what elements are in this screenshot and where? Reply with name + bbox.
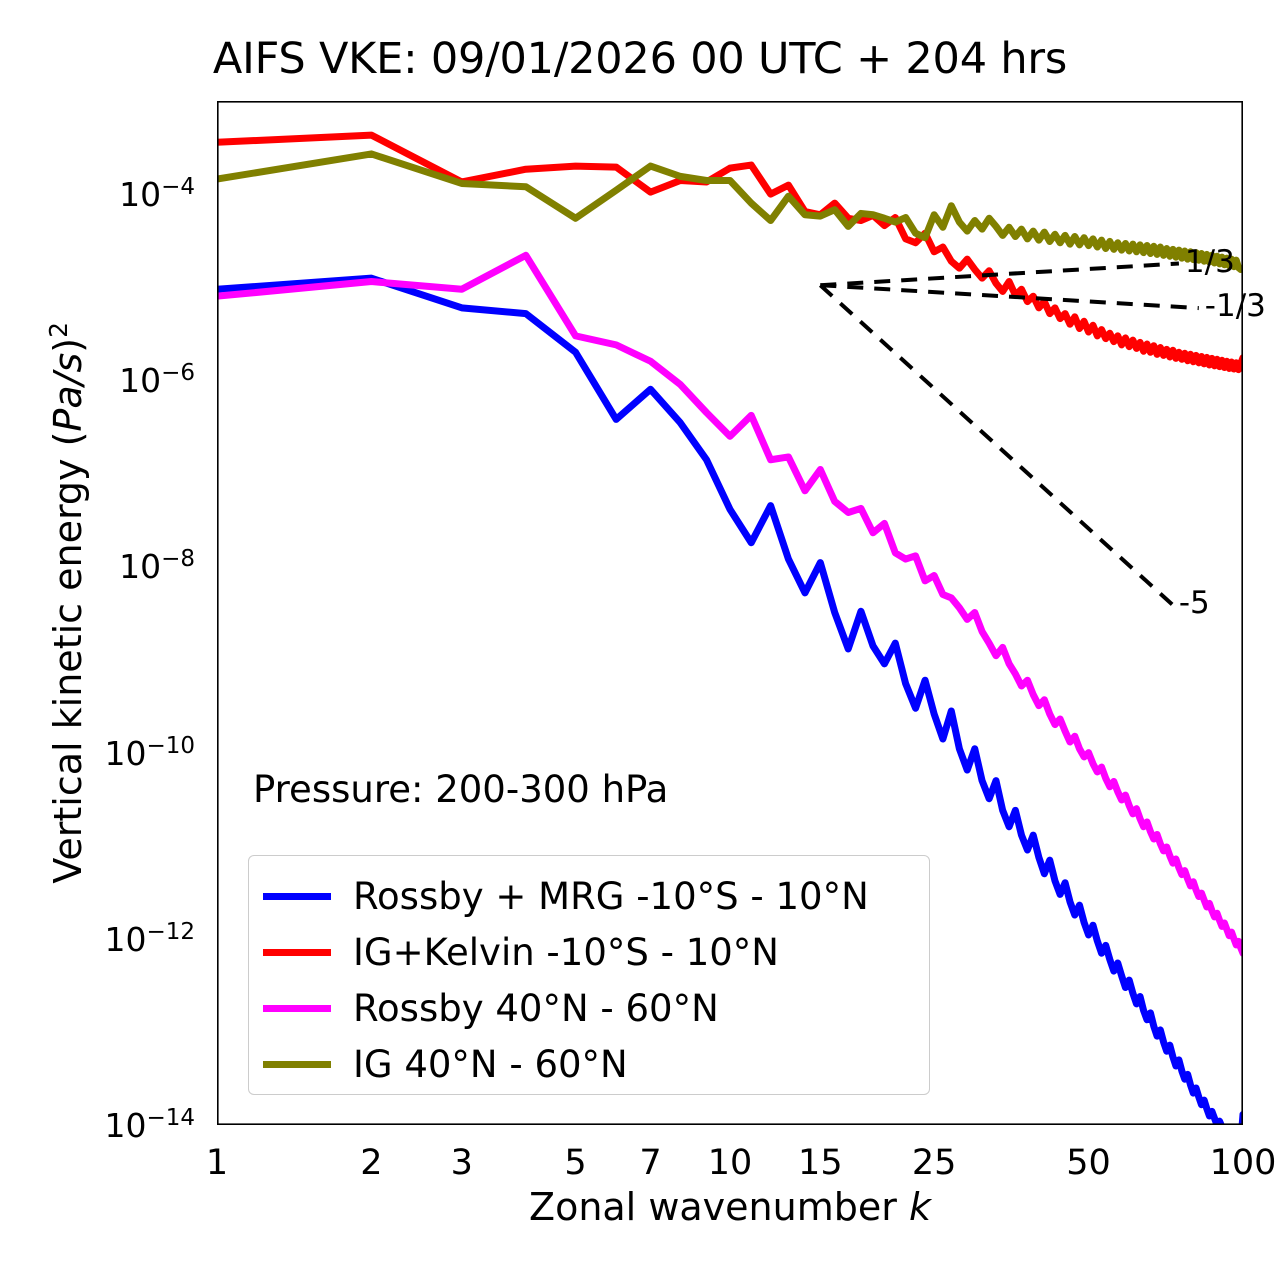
x-tick-label-8: 50	[1066, 1143, 1111, 1183]
legend-label-3: IG 40°N - 60°N	[353, 1046, 628, 1083]
legend-label-2: Rossby 40°N - 60°N	[353, 990, 719, 1027]
legend: Rossby + MRG -10°S - 10°NIG+Kelvin -10°S…	[248, 855, 930, 1095]
x-tick-label-9: 100	[1210, 1143, 1277, 1183]
y-tick-label-5: 10−14	[0, 1105, 195, 1145]
legend-swatch-0	[263, 893, 331, 900]
x-tick-label-4: 7	[639, 1143, 661, 1183]
legend-item-1[interactable]: IG+Kelvin -10°S - 10°N	[263, 924, 779, 980]
y-tick-label-2: 10−8	[0, 546, 195, 586]
x-tick-label-0: 1	[206, 1143, 228, 1183]
x-tick-label-6: 15	[798, 1143, 843, 1183]
y-tick-label-1: 10−6	[0, 360, 195, 400]
y-axis-label: Vertical kinetic energy (Pa/s)2	[44, 203, 90, 1003]
slope-label-1: -1/3	[1205, 288, 1266, 324]
slope-label-0: 1/3	[1185, 244, 1235, 280]
pressure-annotation: Pressure: 200-300 hPa	[253, 768, 668, 811]
y-tick-label-0: 10−4	[0, 174, 195, 214]
x-tick-label-5: 10	[708, 1143, 753, 1183]
legend-swatch-1	[263, 949, 331, 956]
x-tick-label-7: 25	[912, 1143, 957, 1183]
y-tick-label-4: 10−12	[0, 919, 195, 959]
legend-swatch-2	[263, 1005, 331, 1012]
x-axis-label: Zonal wavenumber k	[217, 1185, 1243, 1229]
legend-label-1: IG+Kelvin -10°S - 10°N	[353, 934, 779, 971]
legend-label-0: Rossby + MRG -10°S - 10°N	[353, 878, 869, 915]
slope-label-2: -5	[1179, 585, 1210, 621]
legend-swatch-3	[263, 1061, 331, 1068]
x-tick-label-2: 3	[451, 1143, 473, 1183]
legend-item-0[interactable]: Rossby + MRG -10°S - 10°N	[263, 868, 869, 924]
y-tick-label-3: 10−10	[0, 733, 195, 773]
x-tick-label-1: 2	[360, 1143, 382, 1183]
legend-item-2[interactable]: Rossby 40°N - 60°N	[263, 980, 719, 1036]
chart-page: AIFS VKE: 09/01/2026 00 UTC + 204 hrs Ve…	[0, 0, 1280, 1288]
chart-title: AIFS VKE: 09/01/2026 00 UTC + 204 hrs	[0, 34, 1280, 84]
x-tick-label-3: 5	[564, 1143, 586, 1183]
legend-item-3[interactable]: IG 40°N - 60°N	[263, 1036, 628, 1092]
